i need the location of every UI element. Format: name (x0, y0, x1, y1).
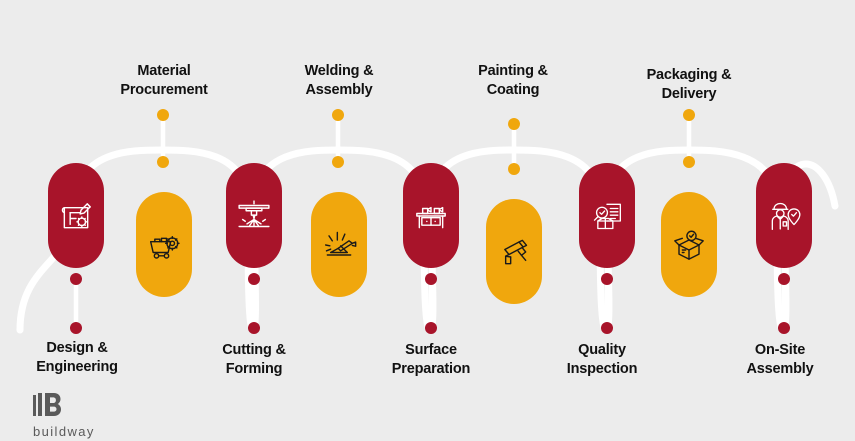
brand-name: buildway (33, 424, 95, 439)
stem-group-upper (163, 117, 689, 168)
infographic-canvas: Design & Engineering Material Procuremen… (0, 0, 855, 441)
laser-cutting-machine-icon (233, 195, 275, 237)
step-label-welding-assembly: Welding & Assembly (259, 62, 419, 100)
step-pill-onsite-assembly[interactable] (756, 163, 812, 268)
label-line-2: Coating (433, 81, 593, 100)
step-label-material-procurement: Material Procurement (84, 62, 244, 100)
magnifier-checklist-box-icon (587, 196, 627, 236)
label-line-1: Design & (0, 339, 157, 358)
label-line-2: Forming (174, 360, 334, 379)
step-pill-packaging-delivery[interactable] (661, 192, 717, 297)
step-label-design-engineering: Design & Engineering (0, 339, 157, 377)
step-label-onsite-assembly: On-Site Assembly (700, 341, 855, 379)
blueprint-pencil-gear-icon (56, 196, 96, 236)
step-pill-design-engineering[interactable] (48, 163, 104, 268)
step-label-cutting-forming: Cutting & Forming (174, 341, 334, 379)
label-line-1: Material (84, 62, 244, 81)
label-line-2: Procurement (84, 81, 244, 100)
brand-logo[interactable]: buildway (33, 393, 95, 439)
label-line-1: On-Site (700, 341, 855, 360)
label-line-2: Assembly (700, 360, 855, 379)
step-pill-quality-inspection[interactable] (579, 163, 635, 268)
label-line-2: Delivery (609, 85, 769, 104)
label-line-1: Welding & (259, 62, 419, 81)
step-pill-painting-coating[interactable] (486, 199, 542, 304)
worker-location-check-icon (764, 196, 804, 236)
step-pill-cutting-forming[interactable] (226, 163, 282, 268)
step-label-painting-coating: Painting & Coating (433, 62, 593, 100)
label-line-1: Painting & (433, 62, 593, 81)
step-label-surface-preparation: Surface Preparation (351, 341, 511, 379)
label-line-1: Quality (522, 341, 682, 360)
welding-torch-sparks-icon (319, 225, 359, 265)
label-line-1: Packaging & (609, 66, 769, 85)
paint-roller-icon (494, 232, 534, 272)
label-line-2: Assembly (259, 81, 419, 100)
step-label-quality-inspection: Quality Inspection (522, 341, 682, 379)
label-line-2: Inspection (522, 360, 682, 379)
step-pill-material-procurement[interactable] (136, 192, 192, 297)
step-pill-surface-preparation[interactable] (403, 163, 459, 268)
workbench-spray-icon (411, 196, 451, 236)
material-cart-gear-icon (144, 225, 184, 265)
step-label-packaging-delivery: Packaging & Delivery (609, 66, 769, 104)
step-pill-welding-assembly[interactable] (311, 192, 367, 297)
label-line-2: Preparation (351, 360, 511, 379)
open-box-check-icon (669, 225, 709, 265)
label-line-2: Engineering (0, 358, 157, 377)
label-line-1: Surface (351, 341, 511, 360)
label-line-1: Cutting & (174, 341, 334, 360)
buildway-monogram-icon (33, 393, 95, 423)
